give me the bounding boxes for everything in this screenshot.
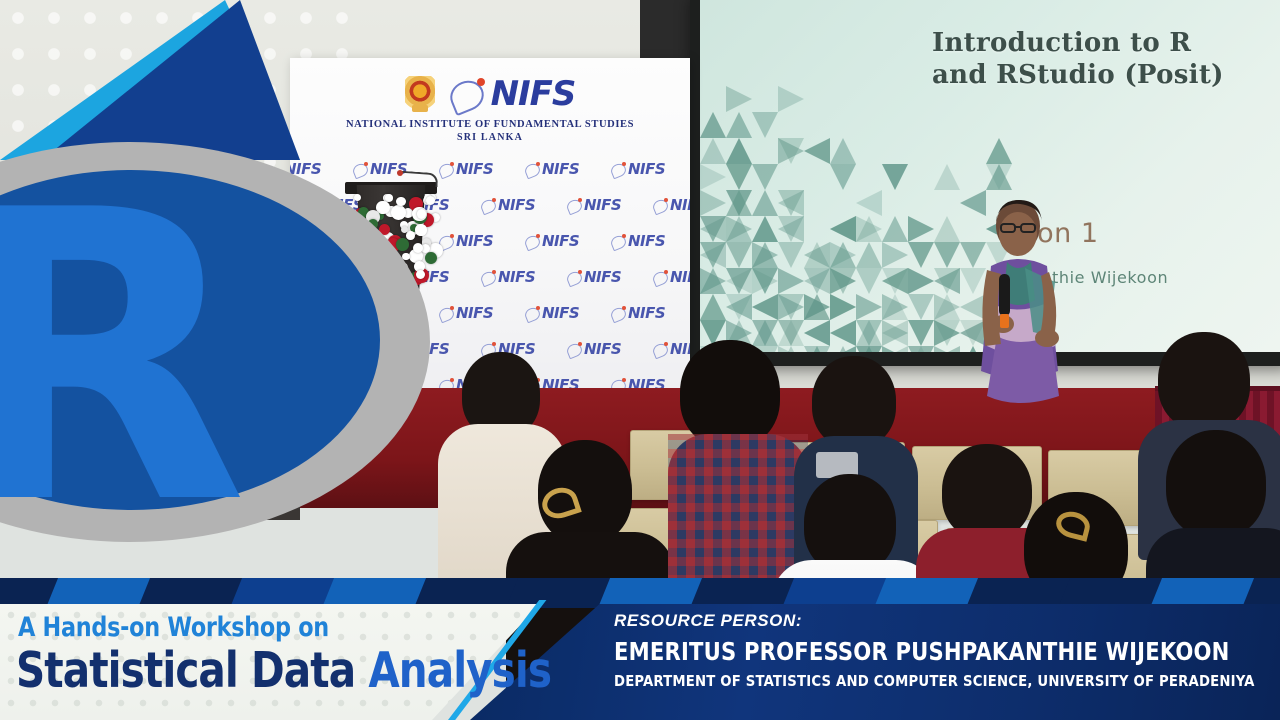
nifs-swoosh-icon (652, 270, 668, 284)
nifs-watermark: NIFS (480, 268, 535, 286)
slide-title-line1: Introduction to R (932, 28, 1280, 60)
slide-triangle-mosaic (700, 60, 1000, 352)
mosaic-triangle (804, 138, 830, 164)
mosaic-triangle (934, 346, 960, 352)
mosaic-triangle (700, 138, 726, 164)
flower (368, 219, 378, 229)
nifs-swoosh-icon (438, 162, 454, 176)
mosaic-triangle (856, 216, 882, 242)
nifs-watermark: NIFS (524, 232, 579, 250)
mosaic-triangle (726, 164, 752, 190)
nifs-watermark-text: NIFS (628, 232, 665, 250)
mosaic-triangle (934, 242, 960, 268)
mosaic-triangle (804, 242, 830, 268)
mosaic-triangle (934, 216, 960, 242)
presenter-figure (963, 196, 1073, 426)
nifs-swoosh-icon (308, 342, 324, 356)
mosaic-triangle (778, 346, 804, 352)
mosaic-triangle (830, 294, 856, 320)
mosaic-triangle (726, 86, 752, 112)
sri-lanka-emblem-icon (405, 76, 435, 112)
mosaic-triangle (882, 216, 908, 242)
resource-person-name: EMERITUS PROFESSOR PUSHPAKANTHIE WIJEKOO… (614, 637, 1230, 666)
nifs-swoosh-icon (524, 162, 540, 176)
institute-name-line2: SRI LANKA (457, 132, 523, 143)
nifs-watermark: NIFS (610, 232, 665, 250)
mosaic-triangle (726, 190, 752, 216)
nifs-watermark: NIFS (566, 196, 621, 214)
nifs-watermark-text: NIFS (498, 196, 535, 214)
nifs-watermark: NIFS (652, 196, 690, 214)
mosaic-triangle (700, 294, 726, 320)
mosaic-triangle (830, 164, 856, 190)
presenter (963, 196, 1073, 426)
mosaic-triangle (856, 320, 882, 346)
mosaic-triangle (804, 346, 830, 352)
mosaic-triangle (752, 320, 778, 346)
flower (426, 196, 435, 205)
institute-name-line1: NATIONAL INSTITUTE OF FUNDAMENTAL STUDIE… (346, 119, 634, 130)
resource-person-department: DEPARTMENT OF STATISTICS AND COMPUTER SC… (614, 672, 1255, 690)
mosaic-triangle (830, 346, 856, 352)
mosaic-triangle (934, 268, 960, 294)
nifs-watermark-text: NIFS (290, 304, 321, 322)
nifs-swoosh-icon (352, 162, 368, 176)
flower (390, 294, 401, 305)
mosaic-triangle (700, 216, 726, 242)
nifs-swoosh-icon (610, 234, 626, 248)
nifs-swoosh-icon (524, 306, 540, 320)
nifs-swoosh-icon (652, 198, 668, 212)
mosaic-triangle (778, 320, 804, 346)
nifs-watermark-text: NIFS (326, 340, 363, 358)
mosaic-triangle (700, 112, 726, 138)
mosaic-triangle (726, 216, 752, 242)
mosaic-triangle (804, 320, 830, 346)
nifs-watermark-text: NIFS (584, 196, 621, 214)
slide-title-line2: and RStudio (Posit) (932, 60, 1280, 92)
microphone-tip-icon (397, 170, 403, 176)
nifs-swoosh-icon (308, 270, 324, 284)
mosaic-triangle (752, 164, 778, 190)
flower (425, 252, 437, 264)
flower (402, 253, 409, 260)
mosaic-triangle (856, 294, 882, 320)
workshop-subtitle: A Hands-on Workshop on (18, 612, 329, 643)
mosaic-triangle (700, 268, 726, 294)
nifs-swoosh-icon (566, 270, 582, 284)
nifs-watermark-text: NIFS (542, 304, 579, 322)
mosaic-triangle (726, 268, 752, 294)
nifs-watermark-text: NIFS (290, 160, 321, 178)
mosaic-triangle (752, 242, 778, 268)
mosaic-triangle (752, 190, 778, 216)
nifs-watermark-text: NIFS (670, 340, 690, 358)
nifs-header-block: NIFS NATIONAL INSTITUTE OF FUNDAMENTAL S… (290, 58, 690, 158)
flower (415, 224, 426, 235)
mosaic-triangle (830, 242, 856, 268)
nifs-watermark: NIFS (438, 304, 493, 322)
mosaic-triangle (778, 138, 804, 164)
mosaic-triangle (778, 216, 804, 242)
nifs-watermark: NIFS (290, 160, 321, 178)
workshop-title-part1: Statistical Data (16, 642, 368, 699)
mosaic-triangle (908, 346, 934, 352)
nifs-watermark-text: NIFS (628, 160, 665, 178)
mosaic-triangle (700, 190, 726, 216)
nifs-swoosh-icon (447, 77, 487, 111)
mosaic-triangle (726, 242, 752, 268)
nifs-logo: NIFS (405, 74, 576, 114)
mosaic-triangle (726, 138, 752, 164)
mosaic-triangle (856, 190, 882, 216)
mosaic-triangle (752, 294, 778, 320)
flower (354, 194, 361, 201)
mosaic-triangle (700, 242, 726, 268)
mosaic-triangle (752, 268, 778, 294)
mosaic-triangle (778, 86, 804, 112)
workshop-title: Statistical Data Analysis (16, 642, 551, 699)
nifs-watermark-text: NIFS (542, 232, 579, 250)
flower (379, 224, 390, 235)
mosaic-triangle (856, 268, 882, 294)
nifs-watermark-text: NIFS (498, 268, 535, 286)
flower (380, 251, 388, 259)
mosaic-triangle (830, 216, 856, 242)
mosaic-triangle (856, 242, 882, 268)
nifs-watermark: NIFS (652, 268, 690, 286)
mosaic-triangle (752, 112, 778, 138)
mosaic-triangle (752, 216, 778, 242)
mosaic-triangle (830, 138, 856, 164)
nifs-watermark: NIFS (480, 196, 535, 214)
nifs-watermark: NIFS (438, 232, 493, 250)
mosaic-triangle (778, 242, 804, 268)
nifs-watermark: NIFS (290, 232, 321, 250)
nifs-swoosh-icon (524, 234, 540, 248)
mosaic-triangle (908, 268, 934, 294)
nifs-watermark: NIFS (566, 340, 621, 358)
nifs-watermark: NIFS (438, 160, 493, 178)
flower (396, 238, 408, 250)
mosaic-triangle (934, 294, 960, 320)
mosaic-triangle (804, 294, 830, 320)
nifs-watermark: NIFS (610, 160, 665, 178)
flower (389, 264, 399, 274)
nifs-watermark-text: NIFS (628, 304, 665, 322)
nifs-swoosh-icon (480, 198, 496, 212)
nifs-watermark-text: NIFS (584, 268, 621, 286)
resource-person-label: RESOURCE PERSON: (614, 611, 802, 631)
mosaic-triangle (934, 320, 960, 346)
nifs-swoosh-icon (652, 342, 668, 356)
nifs-watermark-text: NIFS (542, 160, 579, 178)
mosaic-triangle (726, 294, 752, 320)
nifs-swoosh-icon (480, 270, 496, 284)
nifs-watermark-text: NIFS (456, 160, 493, 178)
nifs-swoosh-icon (566, 342, 582, 356)
mosaic-triangle (986, 164, 1012, 190)
nifs-watermark: NIFS (652, 340, 690, 358)
mosaic-triangle (882, 294, 908, 320)
nifs-swoosh-icon (610, 306, 626, 320)
nifs-watermark: NIFS (524, 304, 579, 322)
mosaic-triangle (882, 346, 908, 352)
flower (385, 194, 392, 201)
nifs-watermark-text: NIFS (456, 232, 493, 250)
nifs-watermark-text: NIFS (456, 304, 493, 322)
nifs-watermark: NIFS (524, 160, 579, 178)
mosaic-triangle (908, 320, 934, 346)
mosaic-triangle (700, 164, 726, 190)
workshop-promo-image: Introduction to R and RStudio (Posit) ss… (0, 0, 1280, 720)
nifs-watermark: NIFS (290, 304, 321, 322)
nifs-watermark-text: NIFS (670, 268, 690, 286)
flower-arrangement (344, 192, 442, 327)
flower (406, 231, 415, 240)
flower (391, 205, 406, 220)
mosaic-triangle (882, 320, 908, 346)
decorative-strip (0, 578, 1280, 608)
nifs-wordmark: NIFS (491, 74, 576, 114)
nifs-watermark-text: NIFS (290, 232, 321, 250)
mosaic-triangle (726, 112, 752, 138)
mosaic-triangle (934, 164, 960, 190)
nifs-swoosh-icon (610, 162, 626, 176)
mosaic-triangle (830, 320, 856, 346)
nifs-watermark-text: NIFS (670, 196, 690, 214)
mosaic-triangle (804, 268, 830, 294)
microphone-stand-icon (400, 171, 439, 188)
mosaic-triangle (908, 242, 934, 268)
flower (416, 270, 425, 279)
mosaic-triangle (778, 190, 804, 216)
nifs-watermark-text: NIFS (584, 340, 621, 358)
flower (396, 197, 406, 207)
mosaic-triangle (778, 268, 804, 294)
mosaic-triangle (882, 242, 908, 268)
nifs-watermark: NIFS (610, 304, 665, 322)
nifs-watermark: NIFS (308, 340, 363, 358)
mosaic-triangle (882, 268, 908, 294)
mosaic-triangle (986, 138, 1012, 164)
flower (417, 209, 427, 219)
mosaic-triangle (856, 346, 882, 352)
nifs-watermark: NIFS (566, 268, 621, 286)
nifs-swoosh-icon (308, 198, 324, 212)
mosaic-triangle (882, 164, 908, 190)
mosaic-triangle (908, 294, 934, 320)
mosaic-triangle (778, 294, 804, 320)
nifs-swoosh-icon (566, 198, 582, 212)
stage-left-shadow (0, 400, 300, 520)
nifs-watermark-text: NIFS (412, 340, 449, 358)
slide-title: Introduction to R and RStudio (Posit) (932, 28, 1280, 91)
mosaic-triangle (830, 268, 856, 294)
mosaic-triangle (908, 216, 934, 242)
workshop-title-part2: Analysis (368, 642, 551, 699)
